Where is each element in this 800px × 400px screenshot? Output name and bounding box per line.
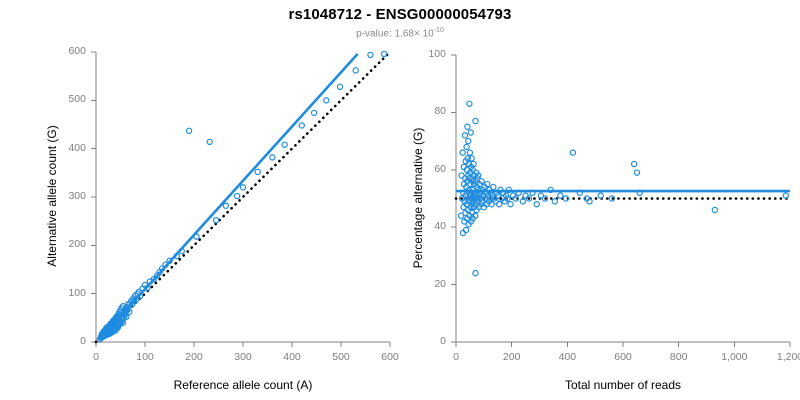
- panel-right-percentage: Percentage alternative (G) Total number …: [400, 0, 800, 400]
- y-tick-label: 60: [386, 163, 446, 175]
- y-tick-label: 400: [26, 142, 86, 154]
- y-tick-label: 600: [26, 45, 86, 57]
- x-tick-label: 800: [649, 351, 709, 363]
- y-tick-label: 80: [386, 105, 446, 117]
- y-tick-label: 40: [386, 220, 446, 232]
- y-tick-label: 100: [26, 287, 86, 299]
- y-tick-label: 0: [26, 335, 86, 347]
- right-scatter-plot: [400, 0, 800, 400]
- figure-root: rs1048712 - ENSG00000054793 p-value: 1.6…: [0, 0, 800, 400]
- x-tick-label: 1,200: [760, 351, 800, 363]
- y-tick-label: 100: [386, 48, 446, 60]
- y-tick-label: 0: [386, 335, 446, 347]
- x-tick-label: 400: [537, 351, 597, 363]
- y-tick-label: 200: [26, 238, 86, 250]
- panel-left-allele-counts: Alternative allele count (G) Reference a…: [0, 0, 400, 400]
- y-tick-label: 500: [26, 93, 86, 105]
- x-tick-label: 0: [426, 351, 486, 363]
- right-x-axis-label: Total number of reads: [356, 378, 800, 392]
- y-tick-label: 20: [386, 278, 446, 290]
- y-tick-label: 300: [26, 190, 86, 202]
- x-tick-label: 200: [482, 351, 542, 363]
- x-tick-label: 1,000: [704, 351, 764, 363]
- x-tick-label: 600: [593, 351, 653, 363]
